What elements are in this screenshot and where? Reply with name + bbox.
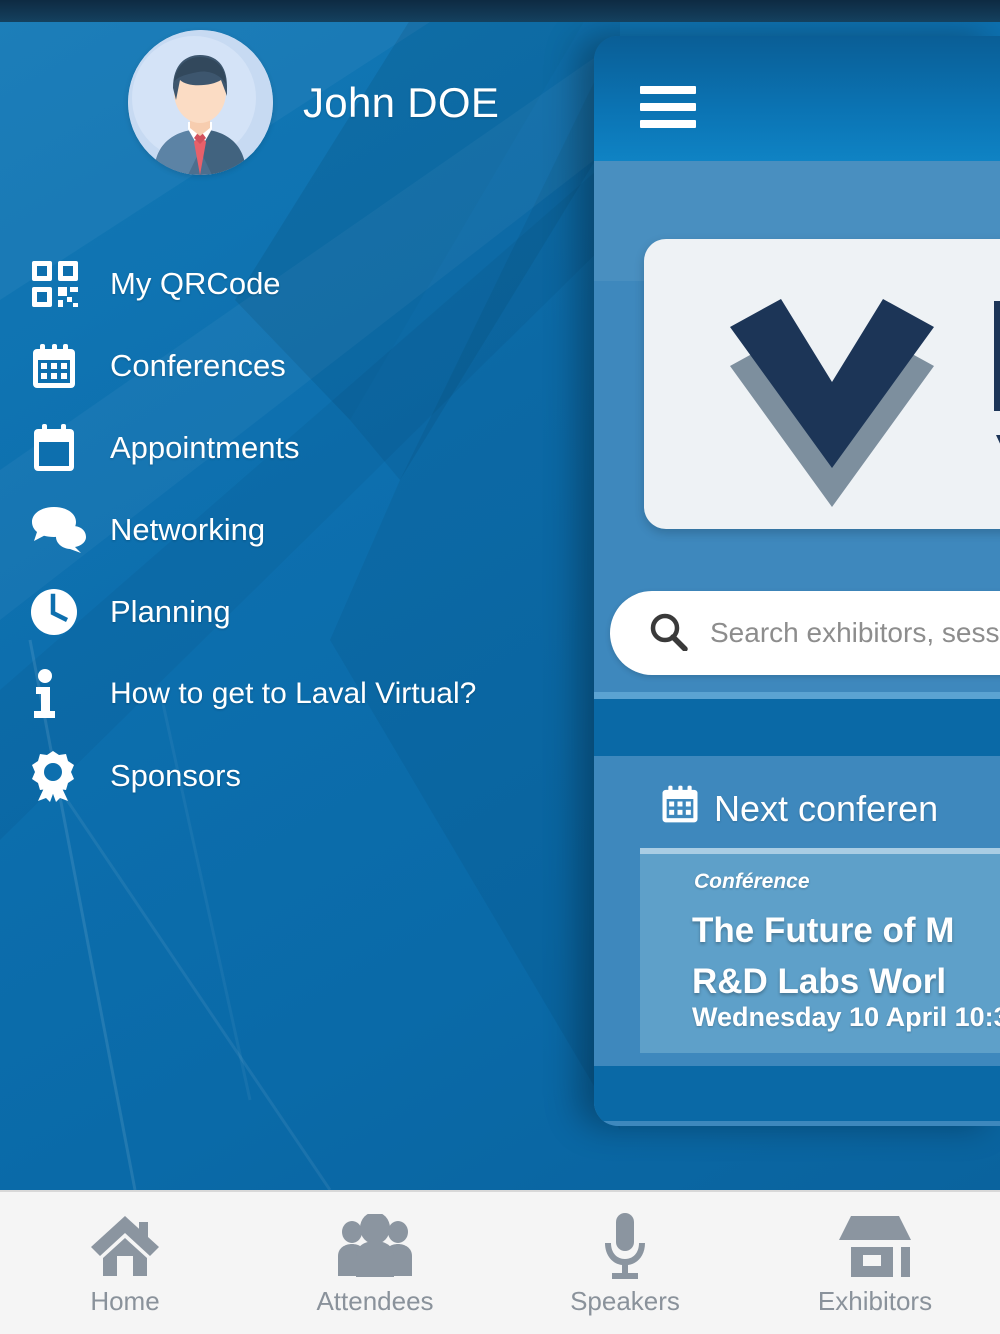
menu-item-label: Planning xyxy=(110,594,231,630)
nav-item-label: Exhibitors xyxy=(818,1286,932,1317)
clock-icon xyxy=(30,586,88,638)
attendees-icon xyxy=(336,1210,414,1282)
drawer-menu: My QRCode xyxy=(0,243,590,817)
main-content-panel[interactable]: Search exhibitors, sessions, s xyxy=(594,36,1000,1126)
info-icon xyxy=(30,668,88,720)
home-icon xyxy=(90,1210,160,1282)
section-gap xyxy=(594,699,1000,756)
menu-item-how-to-get-to-laval-virtual[interactable]: How to get to Laval Virtual? xyxy=(0,653,590,735)
app-root: John DOE xyxy=(0,0,1000,1334)
section-divider xyxy=(594,692,1000,699)
search-placeholder: Search exhibitors, sessions, s xyxy=(710,617,1000,649)
section-gap-bottom xyxy=(594,1066,1000,1121)
chat-bubbles-icon xyxy=(30,504,88,556)
qrcode-icon xyxy=(30,258,88,310)
nav-item-label: Home xyxy=(90,1286,159,1317)
hamburger-menu-icon[interactable] xyxy=(640,86,696,128)
section-title: Next conferen xyxy=(660,784,938,833)
menu-item-label: Conferences xyxy=(110,348,286,384)
conference-date: Wednesday 10 April 10:30 xyxy=(692,1002,1000,1033)
drawer-profile[interactable]: John DOE xyxy=(128,30,499,175)
profile-name: John DOE xyxy=(303,79,499,127)
search-icon xyxy=(648,611,688,656)
panel-header xyxy=(594,36,1000,161)
nav-item-speakers[interactable]: Speakers xyxy=(500,1192,750,1317)
nav-item-label: Speakers xyxy=(570,1286,680,1317)
nav-item-attendees[interactable]: Attendees xyxy=(250,1192,500,1317)
app-logo-card xyxy=(644,239,1000,529)
calendar-blank-icon xyxy=(30,422,88,474)
conference-title: The Future of M R&D Labs Worl xyxy=(692,906,954,1008)
next-conference-section: Next conferen Conférence The Future of M… xyxy=(594,756,1000,1066)
exhibitors-icon xyxy=(837,1210,913,1282)
status-bar xyxy=(0,0,1000,22)
menu-item-label: How to get to Laval Virtual? xyxy=(110,677,476,711)
laval-virtual-chevron-logo xyxy=(644,239,1000,529)
conference-kind: Conférence xyxy=(694,870,810,894)
search-input[interactable]: Search exhibitors, sessions, s xyxy=(610,591,1000,675)
menu-item-label: Sponsors xyxy=(110,758,241,794)
nav-item-exhibitors[interactable]: Exhibitors xyxy=(750,1192,1000,1317)
microphone-icon xyxy=(600,1210,650,1282)
menu-item-networking[interactable]: Networking xyxy=(0,489,590,571)
conference-card[interactable]: Conférence The Future of M R&D Labs Worl… xyxy=(640,848,1000,1053)
section-title-text: Next conferen xyxy=(714,788,938,830)
avatar xyxy=(128,30,273,175)
menu-item-label: Appointments xyxy=(110,430,300,466)
menu-item-appointments[interactable]: Appointments xyxy=(0,407,590,489)
menu-item-label: Networking xyxy=(110,512,265,548)
nav-item-home[interactable]: Home xyxy=(0,1192,250,1317)
panel-body: Search exhibitors, sessions, s xyxy=(594,161,1000,1126)
menu-item-sponsors[interactable]: Sponsors xyxy=(0,735,590,817)
bottom-navigation-bar: Home Attendees xyxy=(0,1190,1000,1334)
menu-item-conferences[interactable]: Conferences xyxy=(0,325,590,407)
calendar-icon xyxy=(660,784,700,833)
menu-item-planning[interactable]: Planning xyxy=(0,571,590,653)
menu-item-label: My QRCode xyxy=(110,266,281,302)
conference-title-line1: The Future of M xyxy=(692,906,954,957)
nav-item-label: Attendees xyxy=(316,1286,433,1317)
award-ribbon-icon xyxy=(30,750,88,802)
conference-title-line2: R&D Labs Worl xyxy=(692,957,954,1008)
menu-item-my-qrcode[interactable]: My QRCode xyxy=(0,243,590,325)
calendar-icon xyxy=(30,340,88,392)
